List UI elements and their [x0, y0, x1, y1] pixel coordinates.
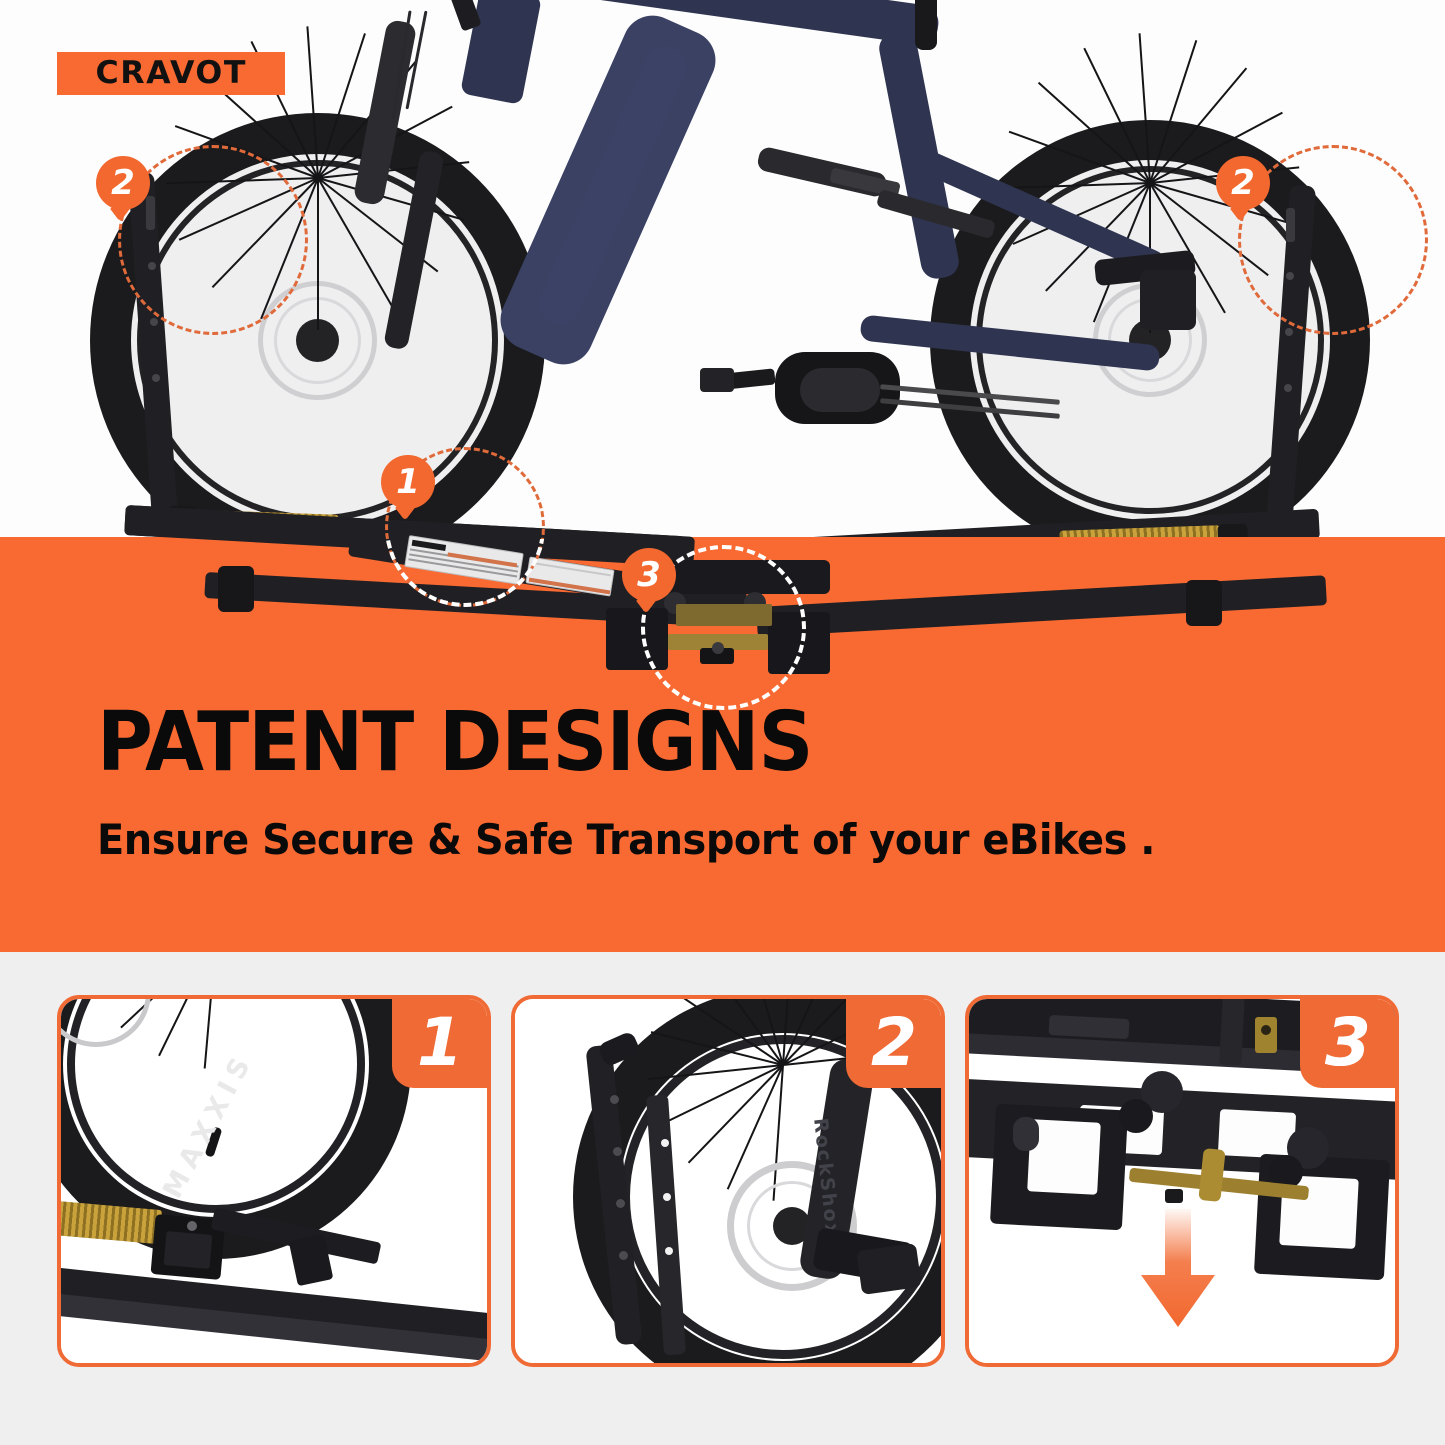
panel-badge-number: 3: [1325, 1010, 1371, 1076]
brand-logo[interactable]: CRAVOT: [57, 52, 285, 95]
panel-badge-number: 1: [417, 1010, 463, 1076]
page-title: PATENT DESIGNS: [97, 702, 813, 784]
promo-band: PATENT DESIGNS Ensure Secure & Safe Tran…: [0, 537, 1445, 952]
page-subtitle: Ensure Secure & Safe Transport of your e…: [97, 819, 1155, 861]
brand-logo-text: CRAVOT: [95, 58, 246, 89]
down-arrow-icon: [1137, 1209, 1219, 1329]
detail-panels-row: MAXXIS 1: [0, 952, 1445, 1445]
panel-3-badge: 3: [1300, 998, 1396, 1088]
detail-panel-wheel-strap[interactable]: MAXXIS 1: [57, 995, 491, 1367]
panel-1-badge: 1: [392, 998, 488, 1088]
callout-badge-2-left: 2: [96, 156, 150, 210]
callout-number: 2: [1231, 166, 1255, 200]
detail-panel-holder-arm[interactable]: RockShox 2: [511, 995, 945, 1367]
panel-badge-number: 2: [871, 1010, 917, 1076]
detail-panel-hitch[interactable]: 3: [965, 995, 1399, 1367]
panel-2-badge: 2: [846, 998, 942, 1088]
callout-badge-2-right: 2: [1216, 156, 1270, 210]
callout-number: 2: [111, 166, 135, 200]
